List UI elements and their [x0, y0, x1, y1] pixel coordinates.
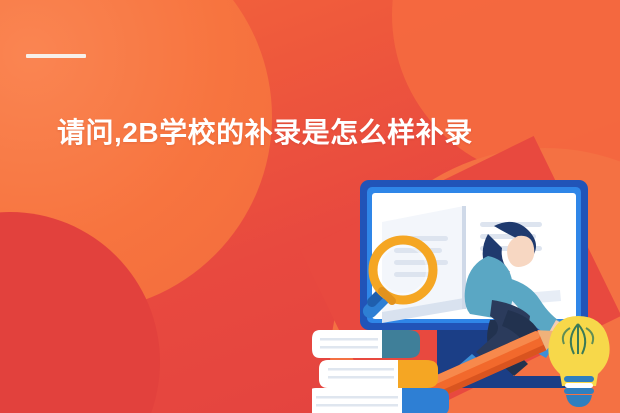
accent-rule	[26, 54, 86, 58]
promo-banner: 请问,2B学校的补录是怎么样补录	[0, 0, 620, 413]
page-title: 请问,2B学校的补录是怎么样补录	[57, 113, 597, 153]
illustration	[312, 178, 620, 413]
light-bulb-icon	[548, 316, 609, 407]
book-stack	[312, 330, 449, 413]
